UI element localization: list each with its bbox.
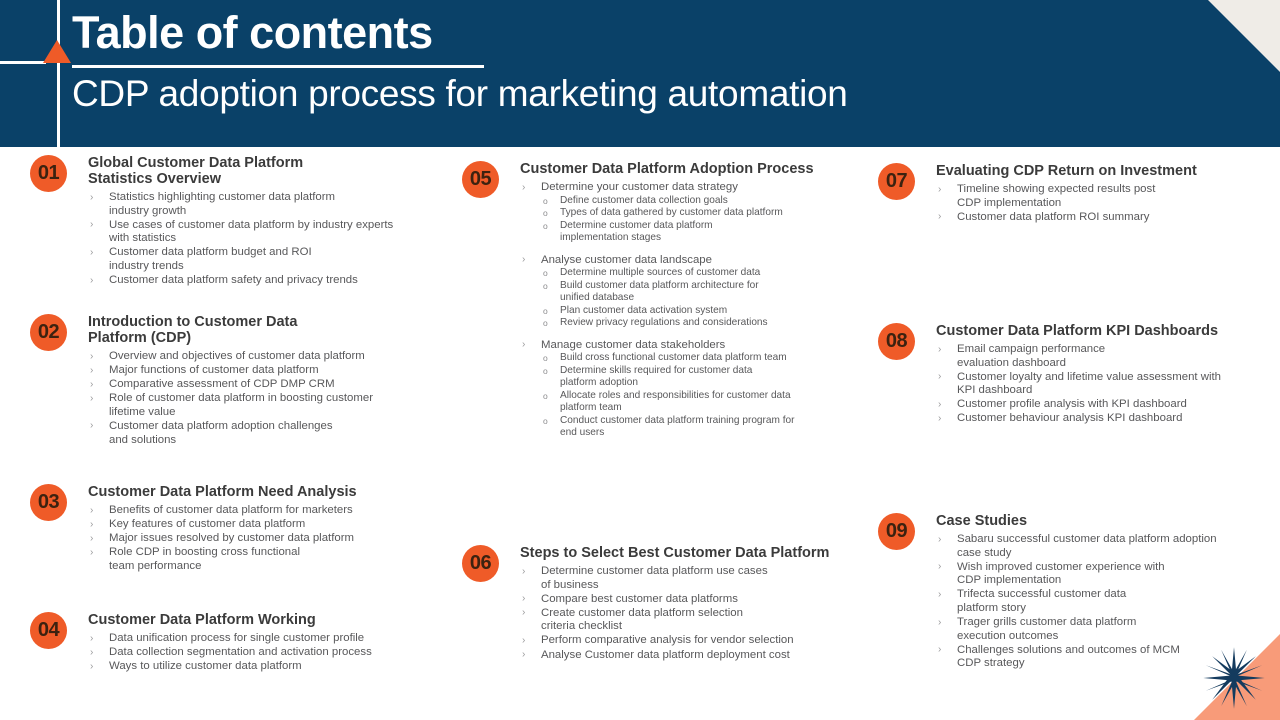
- bullet-item[interactable]: ›Statistics highlighting customer data p…: [88, 191, 430, 218]
- bullet-text: Analyse customer data landscape: [541, 254, 712, 266]
- toc-column-1: 01Global Customer Data Platform Statisti…: [30, 147, 430, 720]
- chevron-right-icon: ›: [938, 643, 941, 657]
- sub-bullet-text: Build customer data platform architectur…: [560, 280, 759, 304]
- entry-number-badge: 08: [878, 323, 915, 360]
- sub-bullet-text: Determine customer data platform impleme…: [560, 220, 713, 244]
- entry-bullet-list: ›Determine customer data platform use ca…: [520, 565, 862, 662]
- bullet-item[interactable]: ›Challenges solutions and outcomes of MC…: [936, 644, 1268, 671]
- bullet-item[interactable]: ›Customer data platform ROI summary: [936, 211, 1268, 225]
- chevron-right-icon: ›: [938, 370, 941, 384]
- bullet-item[interactable]: ›Key features of customer data platform: [88, 518, 430, 532]
- entry-title: Global Customer Data Platform Statistics…: [88, 155, 430, 187]
- chevron-right-icon: ›: [522, 592, 525, 606]
- bullet-item[interactable]: ›Benefits of customer data platform for …: [88, 504, 430, 518]
- bullet-text: Customer behaviour analysis KPI dashboar…: [957, 412, 1182, 424]
- bullet-item[interactable]: ›Wish improved customer experience with …: [936, 561, 1268, 588]
- bullet-item[interactable]: ›Trifecta successful customer data platf…: [936, 588, 1268, 615]
- entry-number-badge: 06: [462, 545, 499, 582]
- sub-bullet-text: Determine multiple sources of customer d…: [560, 267, 760, 278]
- bullet-text: Benefits of customer data platform for m…: [109, 504, 353, 516]
- bullet-text: Role CDP in boosting cross functional te…: [109, 546, 300, 572]
- bullet-text: Data collection segmentation and activat…: [109, 646, 372, 658]
- entry-number-badge: 05: [462, 161, 499, 198]
- sub-bullet-list: oBuild cross functional customer data pl…: [541, 352, 862, 440]
- circle-bullet-icon: o: [543, 207, 548, 220]
- chevron-right-icon: ›: [90, 350, 93, 364]
- bullet-item[interactable]: ›Customer loyalty and lifetime value ass…: [936, 371, 1268, 398]
- bullet-text: Data unification process for single cust…: [109, 632, 364, 644]
- chevron-right-icon: ›: [90, 274, 93, 288]
- bullet-item[interactable]: ›Trager grills customer data platform ex…: [936, 616, 1268, 643]
- bullet-item[interactable]: ›Customer data platform adoption challen…: [88, 420, 430, 447]
- bullet-text: Ways to utilize customer data platform: [109, 660, 302, 672]
- circle-bullet-icon: o: [543, 415, 548, 428]
- chevron-right-icon: ›: [938, 588, 941, 602]
- bullet-text: Timeline showing expected results post C…: [957, 183, 1155, 209]
- chevron-right-icon: ›: [90, 546, 93, 560]
- chevron-right-icon: ›: [522, 253, 525, 267]
- entry-title: Customer Data Platform Need Analysis: [88, 484, 430, 500]
- bullet-text: Trifecta successful customer data platfo…: [957, 588, 1126, 614]
- bullet-item[interactable]: ›Create customer data platform selection…: [520, 607, 862, 634]
- bullet-text: Customer data platform adoption challeng…: [109, 420, 333, 446]
- entry-title: Introduction to Customer Data Platform (…: [88, 314, 430, 346]
- chevron-right-icon: ›: [90, 364, 93, 378]
- toc-entry[interactable]: 01Global Customer Data Platform Statisti…: [30, 155, 430, 288]
- bullet-item[interactable]: ›Major functions of customer data platfo…: [88, 364, 430, 378]
- bullet-text: Manage customer data stakeholders: [541, 339, 725, 351]
- bullet-item[interactable]: ›Perform comparative analysis for vendor…: [520, 634, 862, 648]
- toc-entry[interactable]: 05Customer Data Platform Adoption Proces…: [462, 161, 862, 440]
- bullet-text: Compare best customer data platforms: [541, 593, 738, 605]
- header-vertical-rule: [57, 0, 60, 147]
- entry-body: Global Customer Data Platform Statistics…: [88, 155, 430, 288]
- chevron-right-icon: ›: [938, 398, 941, 412]
- bullet-item[interactable]: ›Role of customer data platform in boost…: [88, 392, 430, 419]
- entry-bullet-list: ›Timeline showing expected results post …: [936, 183, 1268, 224]
- sub-bullet-list: oDetermine multiple sources of customer …: [541, 267, 862, 330]
- toc-entry[interactable]: 02Introduction to Customer Data Platform…: [30, 314, 430, 448]
- sub-bullet-text: Types of data gathered by customer data …: [560, 207, 783, 218]
- bullet-text: Sabaru successful customer data platform…: [957, 533, 1217, 559]
- chevron-right-icon: ›: [938, 183, 941, 197]
- chevron-right-icon: ›: [90, 518, 93, 532]
- bullet-text: Customer loyalty and lifetime value asse…: [957, 371, 1221, 397]
- entry-title: Customer Data Platform KPI Dashboards: [936, 323, 1268, 339]
- circle-bullet-icon: o: [543, 305, 548, 318]
- circle-bullet-icon: o: [543, 317, 548, 330]
- bullet-text: Customer data platform ROI summary: [957, 211, 1149, 223]
- bullet-item[interactable]: ›Manage customer data stakeholdersoBuild…: [520, 339, 862, 440]
- chevron-right-icon: ›: [938, 210, 941, 224]
- toc-entry[interactable]: 06Steps to Select Best Customer Data Pla…: [462, 545, 862, 663]
- sub-bullet-text: Allocate roles and responsibilities for …: [560, 390, 791, 414]
- bullet-item[interactable]: ›Ways to utilize customer data platform: [88, 660, 430, 674]
- entry-number-badge: 02: [30, 314, 67, 351]
- toc-entry[interactable]: 07Evaluating CDP Return on Investment›Ti…: [878, 163, 1268, 225]
- chevron-right-icon: ›: [938, 616, 941, 630]
- circle-bullet-icon: o: [543, 195, 548, 208]
- bullet-text: Challenges solutions and outcomes of MCM…: [957, 644, 1180, 670]
- bullet-item[interactable]: ›Customer data platform safety and priva…: [88, 274, 430, 288]
- chevron-right-icon: ›: [938, 560, 941, 574]
- circle-bullet-icon: o: [543, 352, 548, 365]
- entry-body: Customer Data Platform Adoption Process›…: [520, 161, 862, 440]
- entry-body: Customer Data Platform Working›Data unif…: [88, 612, 430, 674]
- bullet-text: Customer data platform safety and privac…: [109, 274, 358, 286]
- chevron-right-icon: ›: [522, 338, 525, 352]
- header-horizontal-rule: [0, 61, 46, 64]
- title-block: Table of contents CDP adoption process f…: [72, 6, 1172, 118]
- bullet-item[interactable]: ›Use cases of customer data platform by …: [88, 219, 430, 246]
- sub-bullet-item[interactable]: oBuild customer data platform architectu…: [541, 280, 862, 305]
- toc-column-3: 07Evaluating CDP Return on Investment›Ti…: [878, 147, 1268, 720]
- circle-bullet-icon: o: [543, 220, 548, 233]
- bullet-text: Key features of customer data platform: [109, 518, 305, 530]
- sub-bullet-item[interactable]: oBuild cross functional customer data pl…: [541, 352, 862, 365]
- sub-bullet-item[interactable]: oDetermine customer data platform implem…: [541, 220, 862, 245]
- sub-bullet-text: Build cross functional customer data pla…: [560, 352, 787, 363]
- bullet-text: Trager grills customer data platform exe…: [957, 616, 1136, 642]
- sub-bullet-item[interactable]: oPlan customer data activation system: [541, 305, 862, 318]
- entry-body: Evaluating CDP Return on Investment›Time…: [936, 163, 1268, 224]
- bullet-item[interactable]: ›Customer profile analysis with KPI dash…: [936, 398, 1268, 412]
- entry-bullet-list: ›Overview and objectives of customer dat…: [88, 350, 430, 447]
- bullet-item[interactable]: ›Data unification process for single cus…: [88, 632, 430, 646]
- bullet-item[interactable]: ›Major issues resolved by customer data …: [88, 532, 430, 546]
- bullet-text: Major issues resolved by customer data p…: [109, 532, 354, 544]
- chevron-right-icon: ›: [90, 646, 93, 660]
- chevron-right-icon: ›: [522, 606, 525, 620]
- bullet-text: Customer data platform budget and ROI in…: [109, 246, 312, 272]
- bullet-text: Wish improved customer experience with C…: [957, 561, 1165, 587]
- bullet-text: Perform comparative analysis for vendor …: [541, 634, 794, 646]
- entry-number-badge: 09: [878, 513, 915, 550]
- bullet-item[interactable]: ›Timeline showing expected results post …: [936, 183, 1268, 210]
- bullet-text: Analyse Customer data platform deploymen…: [541, 649, 790, 661]
- toc-column-2: 05Customer Data Platform Adoption Proces…: [462, 147, 862, 720]
- chevron-right-icon: ›: [90, 504, 93, 518]
- bullet-item[interactable]: ›Comparative assessment of CDP DMP CRM: [88, 378, 430, 392]
- bullet-text: Statistics highlighting customer data pl…: [109, 191, 335, 217]
- entry-number-badge: 04: [30, 612, 67, 649]
- bullet-item[interactable]: ›Sabaru successful customer data platfor…: [936, 533, 1268, 560]
- chevron-right-icon: ›: [522, 634, 525, 648]
- entry-number-badge: 07: [878, 163, 915, 200]
- entry-title: Customer Data Platform Working: [88, 612, 430, 628]
- sub-bullet-item[interactable]: oAllocate roles and responsibilities for…: [541, 390, 862, 415]
- bullet-text: Comparative assessment of CDP DMP CRM: [109, 378, 335, 390]
- toc-entry[interactable]: 03Customer Data Platform Need Analysis›B…: [30, 484, 430, 574]
- entry-title: Steps to Select Best Customer Data Platf…: [520, 545, 862, 561]
- bullet-text: Email campaign performance evaluation da…: [957, 343, 1105, 369]
- chevron-right-icon: ›: [938, 343, 941, 357]
- sub-bullet-item[interactable]: oTypes of data gathered by customer data…: [541, 207, 862, 220]
- bullet-text: Determine customer data platform use cas…: [541, 565, 768, 591]
- bullet-item[interactable]: ›Data collection segmentation and activa…: [88, 646, 430, 660]
- toc-entry[interactable]: 08Customer Data Platform KPI Dashboards›…: [878, 323, 1268, 427]
- entry-body: Customer Data Platform Need Analysis›Ben…: [88, 484, 430, 573]
- sub-bullet-item[interactable]: oConduct customer data platform training…: [541, 415, 862, 440]
- sub-bullet-text: Plan customer data activation system: [560, 305, 727, 316]
- page-title: Table of contents: [72, 6, 1172, 60]
- circle-bullet-icon: o: [543, 365, 548, 378]
- circle-bullet-icon: o: [543, 280, 548, 293]
- circle-bullet-icon: o: [543, 267, 548, 280]
- sub-bullet-text: Conduct customer data platform training …: [560, 415, 795, 439]
- bullet-text: Determine your customer data strategy: [541, 181, 738, 193]
- circle-bullet-icon: o: [543, 390, 548, 403]
- chevron-right-icon: ›: [90, 532, 93, 546]
- chevron-right-icon: ›: [90, 392, 93, 406]
- entry-bullet-list: ›Data unification process for single cus…: [88, 632, 430, 674]
- bullet-item[interactable]: ›Determine your customer data strategyoD…: [520, 181, 862, 245]
- bullet-item[interactable]: ›Role CDP in boosting cross functional t…: [88, 546, 430, 573]
- chevron-right-icon: ›: [90, 660, 93, 674]
- entry-body: Customer Data Platform KPI Dashboards›Em…: [936, 323, 1268, 426]
- sub-bullet-text: Define customer data collection goals: [560, 195, 728, 206]
- entry-body: Introduction to Customer Data Platform (…: [88, 314, 430, 447]
- triangle-marker-icon: [43, 40, 71, 63]
- bullet-item[interactable]: ›Email campaign performance evaluation d…: [936, 343, 1268, 370]
- sub-bullet-item[interactable]: oDefine customer data collection goals: [541, 195, 862, 208]
- bullet-item[interactable]: ›Customer behaviour analysis KPI dashboa…: [936, 412, 1268, 426]
- entry-bullet-list: ›Sabaru successful customer data platfor…: [936, 533, 1268, 671]
- sub-bullet-item[interactable]: oReview privacy regulations and consider…: [541, 317, 862, 330]
- chevron-right-icon: ›: [90, 191, 93, 205]
- bullet-item[interactable]: ›Overview and objectives of customer dat…: [88, 350, 430, 364]
- bullet-item[interactable]: ›Compare best customer data platforms: [520, 593, 862, 607]
- sub-bullet-item[interactable]: oDetermine multiple sources of customer …: [541, 267, 862, 280]
- bullet-text: Use cases of customer data platform by i…: [109, 219, 393, 245]
- chevron-right-icon: ›: [522, 565, 525, 579]
- entry-bullet-list: ›Statistics highlighting customer data p…: [88, 191, 430, 288]
- header-corner-cut-decoration: [1208, 0, 1280, 72]
- sub-bullet-item[interactable]: oDetermine skills required for customer …: [541, 365, 862, 390]
- entry-number-badge: 03: [30, 484, 67, 521]
- bullet-item[interactable]: ›Analyse customer data landscapeoDetermi…: [520, 254, 862, 330]
- bullet-text: Customer profile analysis with KPI dashb…: [957, 398, 1187, 410]
- toc-content: 01Global Customer Data Platform Statisti…: [0, 147, 1280, 720]
- entry-title: Case Studies: [936, 513, 1268, 529]
- page-subtitle: CDP adoption process for marketing autom…: [72, 70, 1172, 118]
- bullet-item[interactable]: ›Determine customer data platform use ca…: [520, 565, 862, 592]
- chevron-right-icon: ›: [90, 378, 93, 392]
- entry-bullet-list: ›Email campaign performance evaluation d…: [936, 343, 1268, 426]
- entry-title: Customer Data Platform Adoption Process: [520, 161, 862, 177]
- entry-bullet-list: ›Determine your customer data strategyoD…: [520, 181, 862, 440]
- chevron-right-icon: ›: [90, 419, 93, 433]
- entry-title: Evaluating CDP Return on Investment: [936, 163, 1268, 179]
- entry-body: Steps to Select Best Customer Data Platf…: [520, 545, 862, 662]
- bullet-text: Create customer data platform selection …: [541, 607, 743, 633]
- toc-entry[interactable]: 09Case Studies›Sabaru successful custome…: [878, 513, 1268, 671]
- entry-number-badge: 01: [30, 155, 67, 192]
- sub-bullet-text: Determine skills required for customer d…: [560, 365, 752, 389]
- entry-bullet-list: ›Benefits of customer data platform for …: [88, 504, 430, 573]
- slide-header: Table of contents CDP adoption process f…: [0, 0, 1280, 147]
- chevron-right-icon: ›: [938, 412, 941, 426]
- title-underline: [72, 65, 484, 68]
- chevron-right-icon: ›: [90, 246, 93, 260]
- chevron-right-icon: ›: [522, 648, 525, 662]
- bullet-item[interactable]: ›Analyse Customer data platform deployme…: [520, 649, 862, 663]
- chevron-right-icon: ›: [938, 533, 941, 547]
- bullet-item[interactable]: ›Customer data platform budget and ROI i…: [88, 246, 430, 273]
- entry-body: Case Studies›Sabaru successful customer …: [936, 513, 1268, 671]
- toc-entry[interactable]: 04Customer Data Platform Working›Data un…: [30, 612, 430, 674]
- bullet-text: Major functions of customer data platfor…: [109, 364, 319, 376]
- sub-bullet-text: Review privacy regulations and considera…: [560, 317, 768, 328]
- chevron-right-icon: ›: [522, 181, 525, 195]
- bullet-text: Overview and objectives of customer data…: [109, 350, 365, 362]
- chevron-right-icon: ›: [90, 632, 93, 646]
- chevron-right-icon: ›: [90, 218, 93, 232]
- bullet-text: Role of customer data platform in boosti…: [109, 392, 373, 418]
- sub-bullet-list: oDefine customer data collection goalsoT…: [541, 195, 862, 245]
